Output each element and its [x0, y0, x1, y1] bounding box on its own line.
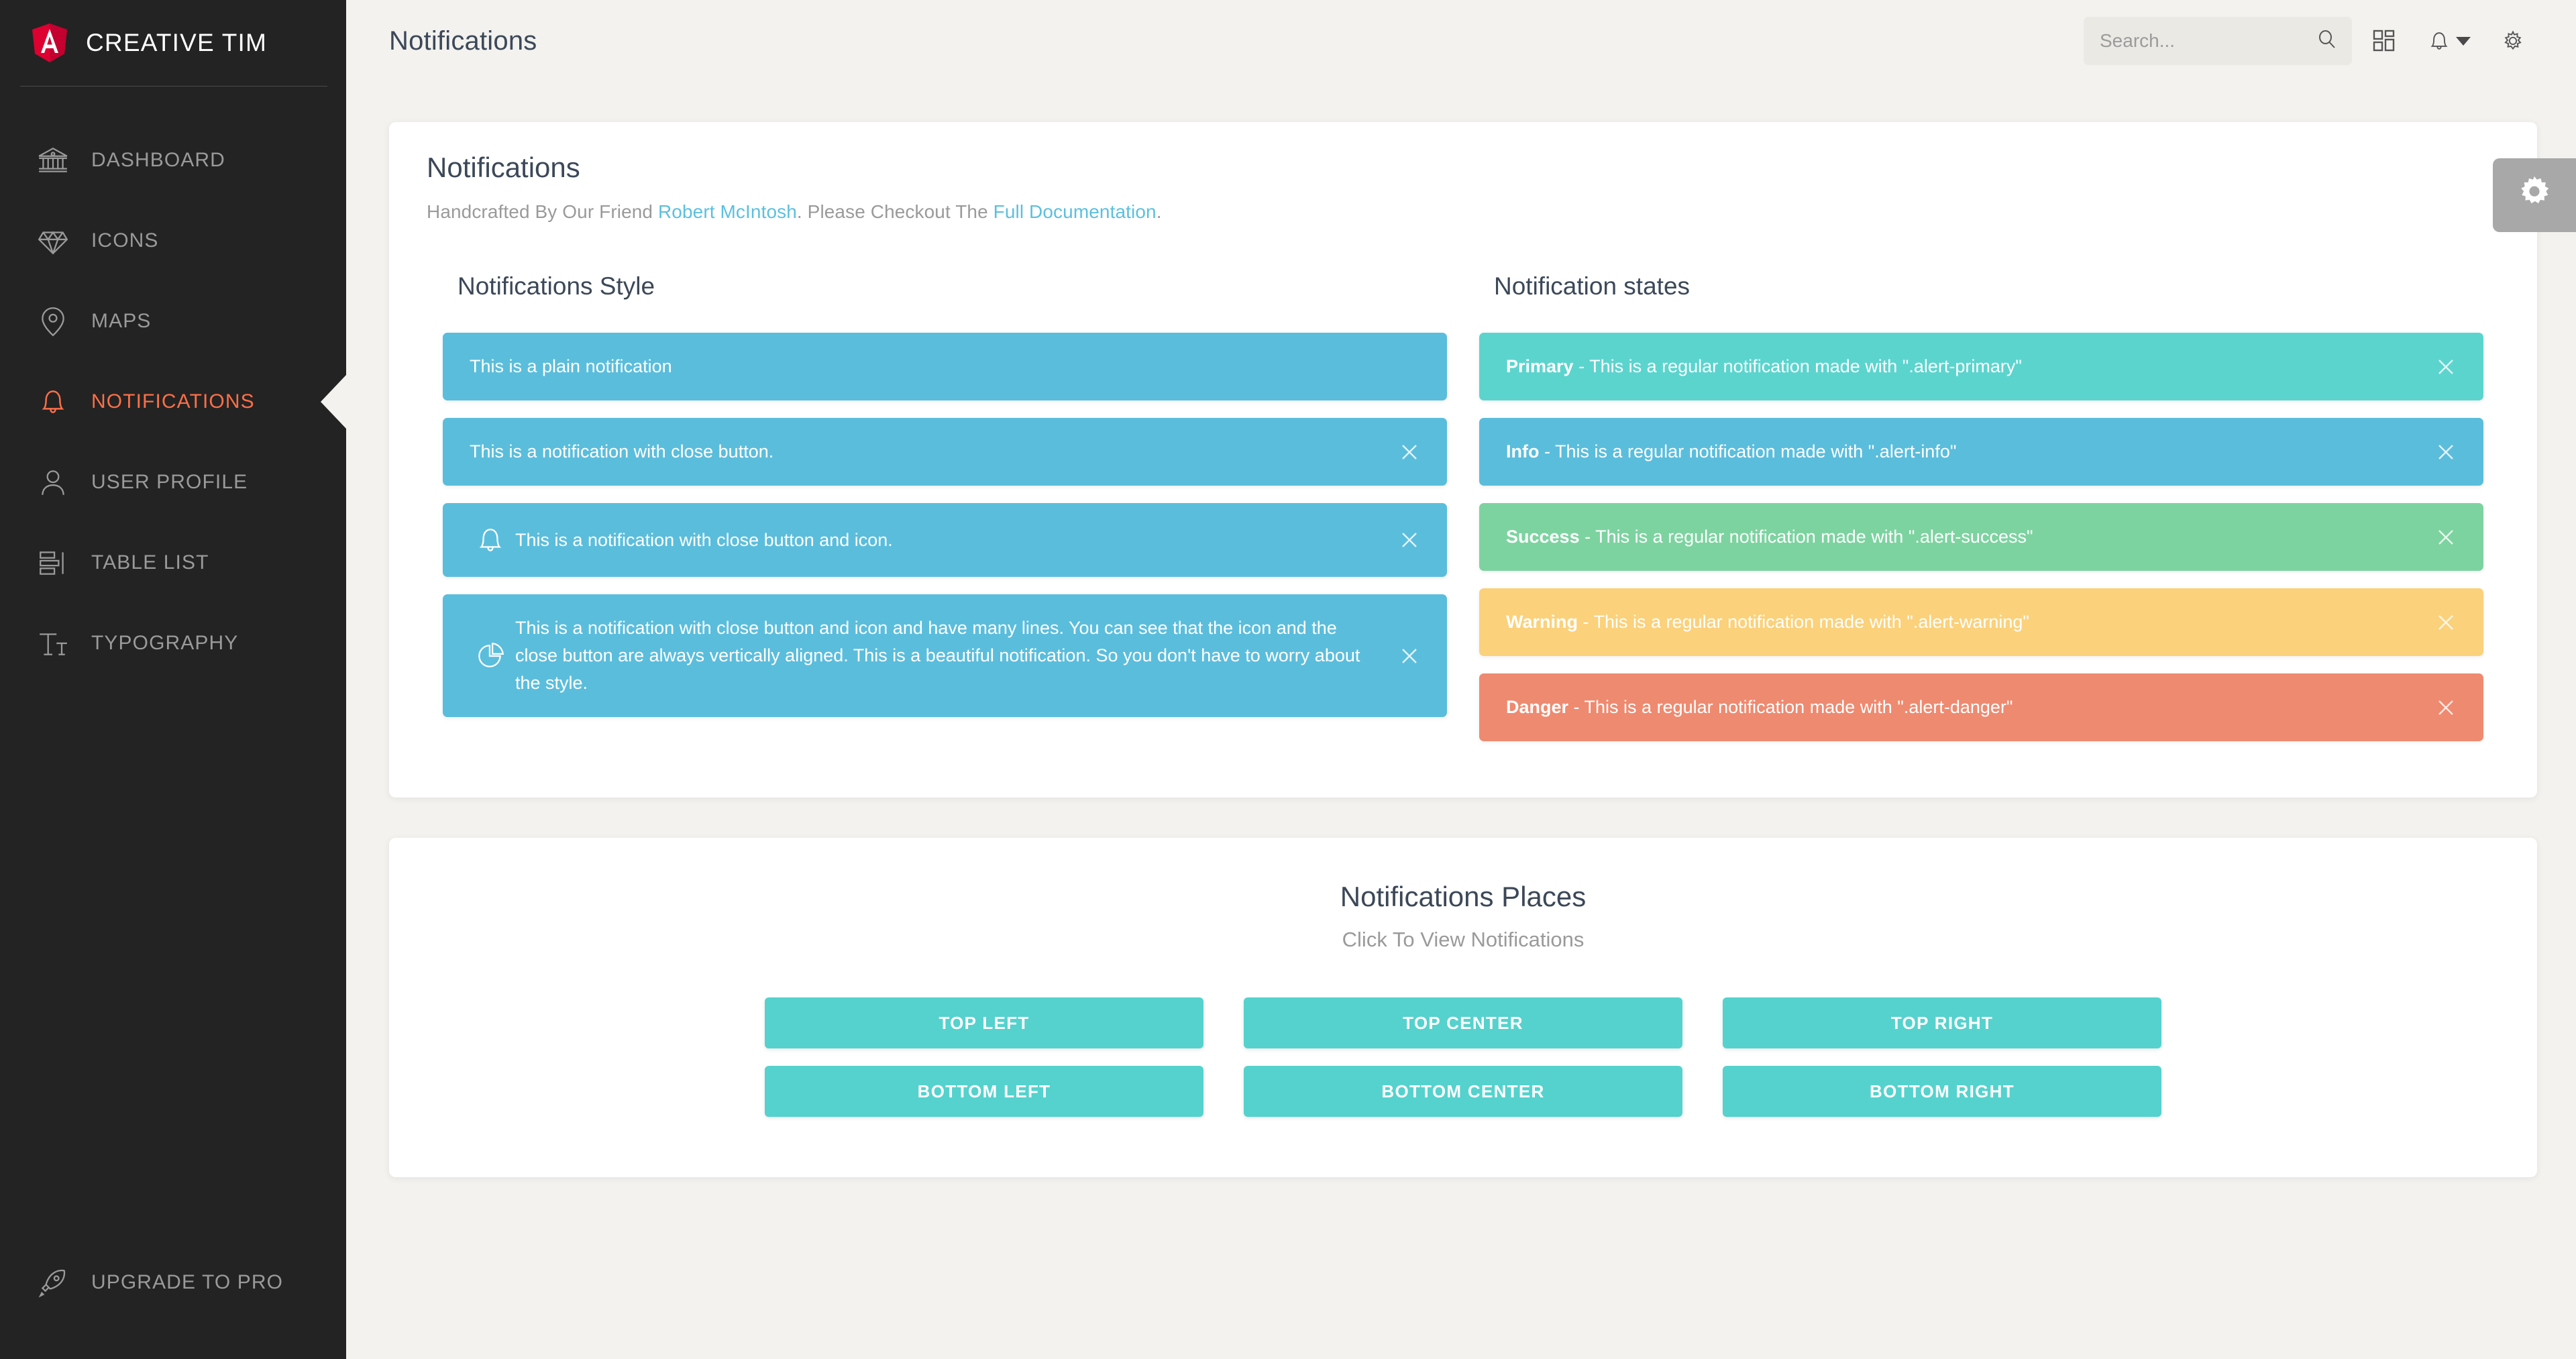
close-icon[interactable] — [1395, 641, 1424, 671]
sidebar-item-label: DASHBOARD — [91, 149, 225, 172]
alert-text: Warning - This is a regular notification… — [1506, 608, 2419, 636]
alert-warning: Warning - This is a regular notification… — [1479, 588, 2483, 656]
user-icon — [35, 464, 71, 500]
alert-separator: - — [1580, 527, 1596, 547]
sidebar-item-label: MAPS — [91, 310, 151, 333]
close-icon[interactable] — [1395, 525, 1424, 555]
gear-icon — [2517, 176, 2552, 215]
sidebar-item-label: NOTIFICATIONS — [91, 390, 255, 413]
documentation-link[interactable]: Full Documentation — [994, 201, 1157, 222]
app-root: CREATIVE TIM DASHBOARD — [0, 0, 2576, 1359]
alert-separator: - — [1574, 356, 1590, 376]
places-subtitle: Click To View Notifications — [427, 928, 2500, 952]
dashboard-grid-icon — [2371, 28, 2398, 54]
active-item-caret — [321, 375, 346, 429]
close-icon[interactable] — [1395, 437, 1424, 467]
map-pin-icon — [35, 303, 71, 339]
notification-places-card: Notifications Places Click To View Notif… — [389, 838, 2537, 1177]
rocket-icon — [35, 1264, 71, 1301]
brand-title: CREATIVE TIM — [86, 29, 267, 57]
search-input[interactable] — [2100, 30, 2309, 52]
typography-icon — [35, 625, 71, 661]
close-icon[interactable] — [2431, 437, 2461, 467]
bank-icon — [35, 142, 71, 178]
alert-text: Danger - This is a regular notification … — [1506, 694, 2419, 721]
places-button-grid: TOP LEFT TOP CENTER TOP RIGHT BOTTOM LEF… — [427, 997, 2500, 1117]
chevron-down-icon — [2456, 37, 2471, 46]
sidebar-divider — [20, 86, 327, 87]
alert-body: This is a regular notification made with… — [1595, 527, 2033, 547]
top-left-button[interactable]: TOP LEFT — [765, 997, 1203, 1048]
bottom-right-button[interactable]: BOTTOM RIGHT — [1723, 1066, 2161, 1117]
alert-label: Warning — [1506, 612, 1578, 632]
sidebar-item-dashboard[interactable]: DASHBOARD — [0, 120, 346, 201]
notifications-card: Notifications Handcrafted By Our Friend … — [389, 122, 2537, 798]
pie-chart-icon — [466, 639, 515, 673]
table-list-icon — [35, 545, 71, 581]
gear-icon — [2500, 28, 2526, 54]
sidebar-item-maps[interactable]: MAPS — [0, 281, 346, 362]
main-content: Notifications — [346, 0, 2576, 1359]
page-title: Notifications — [389, 26, 537, 56]
sidebar-nav: DASHBOARD ICONS — [0, 120, 346, 1242]
bottom-left-button[interactable]: BOTTOM LEFT — [765, 1066, 1203, 1117]
bell-icon — [2426, 28, 2452, 54]
notifications-dropdown-button[interactable] — [2416, 17, 2481, 65]
close-icon[interactable] — [2431, 523, 2461, 552]
sidebar-item-label: TABLE LIST — [91, 551, 209, 574]
settings-button[interactable] — [2481, 17, 2545, 65]
sidebar-item-label: ICONS — [91, 229, 159, 252]
sidebar-item-user-profile[interactable]: USER PROFILE — [0, 442, 346, 523]
subtitle-suffix: . — [1157, 201, 1162, 222]
author-link[interactable]: Robert McIntosh — [658, 201, 797, 222]
upgrade-label: UPGRADE TO PRO — [91, 1271, 283, 1294]
alert-separator: - — [1578, 612, 1594, 632]
alert-primary: Primary - This is a regular notification… — [1479, 333, 2483, 400]
close-icon[interactable] — [2431, 693, 2461, 722]
bell-icon — [466, 523, 515, 557]
alert-label: Primary — [1506, 356, 1574, 376]
alert-body: This is a regular notification made with… — [1594, 612, 2029, 632]
angular-shield-logo-icon — [32, 23, 67, 62]
sidebar-item-upgrade-to-pro[interactable]: UPGRADE TO PRO — [0, 1242, 346, 1323]
notification-states-column: Notification states Primary - This is a … — [1463, 272, 2500, 759]
sidebar: CREATIVE TIM DASHBOARD — [0, 0, 346, 1359]
sidebar-item-label: TYPOGRAPHY — [91, 632, 238, 655]
alert-text: This is a notification with close button… — [470, 438, 1383, 466]
alert-with-close: This is a notification with close button… — [443, 418, 1447, 486]
places-title: Notifications Places — [427, 881, 2500, 913]
sidebar-item-typography[interactable]: TYPOGRAPHY — [0, 603, 346, 684]
close-icon[interactable] — [2431, 352, 2461, 382]
sidebar-item-notifications[interactable]: NOTIFICATIONS — [0, 362, 346, 442]
settings-panel-toggle[interactable] — [2493, 158, 2576, 232]
alert-success: Success - This is a regular notification… — [1479, 503, 2483, 571]
styles-column-title: Notifications Style — [458, 272, 1447, 301]
dashboard-grid-button[interactable] — [2352, 17, 2416, 65]
search-box[interactable] — [2084, 17, 2352, 65]
alert-text: Primary - This is a regular notification… — [1506, 353, 2419, 380]
alert-columns: Notifications Style This is a plain noti… — [427, 272, 2500, 759]
alert-body: This is a regular notification made with… — [1589, 356, 2022, 376]
sidebar-item-icons[interactable]: ICONS — [0, 201, 346, 281]
bell-icon — [35, 384, 71, 420]
sidebar-item-table-list[interactable]: TABLE LIST — [0, 523, 346, 603]
search-icon[interactable] — [2316, 28, 2339, 54]
alert-label: Info — [1506, 441, 1539, 461]
alert-text: Info - This is a regular notification ma… — [1506, 438, 2419, 466]
sidebar-item-label: USER PROFILE — [91, 471, 248, 494]
alert-separator: - — [1539, 441, 1555, 461]
card-subtitle: Handcrafted By Our Friend Robert McIntos… — [427, 201, 2500, 223]
alert-body: This is a regular notification made with… — [1585, 697, 2013, 717]
alert-with-close-and-icon: This is a notification with close button… — [443, 503, 1447, 577]
alert-danger: Danger - This is a regular notification … — [1479, 673, 2483, 741]
top-right-button[interactable]: TOP RIGHT — [1723, 997, 2161, 1048]
states-column-title: Notification states — [1494, 272, 2483, 301]
alert-info: Info - This is a regular notification ma… — [1479, 418, 2483, 486]
alert-separator: - — [1568, 697, 1585, 717]
alert-text: Success - This is a regular notification… — [1506, 523, 2419, 551]
close-icon[interactable] — [2431, 608, 2461, 637]
card-title: Notifications — [427, 152, 2500, 184]
alert-body: This is a regular notification made with… — [1555, 441, 1956, 461]
content-area: Notifications Handcrafted By Our Friend … — [346, 122, 2576, 1177]
alert-plain: This is a plain notification — [443, 333, 1447, 400]
topbar: Notifications — [346, 0, 2576, 82]
alert-text: This is a plain notification — [470, 353, 1383, 380]
brand[interactable]: CREATIVE TIM — [0, 0, 346, 86]
bottom-center-button[interactable]: BOTTOM CENTER — [1244, 1066, 1682, 1117]
alert-text: This is a notification with close button… — [515, 614, 1383, 697]
subtitle-prefix: Handcrafted By Our Friend — [427, 201, 658, 222]
topbar-actions — [2084, 17, 2545, 65]
diamond-icon — [35, 223, 71, 259]
top-center-button[interactable]: TOP CENTER — [1244, 997, 1682, 1048]
alert-text: This is a notification with close button… — [515, 527, 1383, 554]
alert-multiline: This is a notification with close button… — [443, 594, 1447, 717]
alert-label: Success — [1506, 527, 1580, 547]
subtitle-middle: . Please Checkout The — [797, 201, 994, 222]
notifications-style-column: Notifications Style This is a plain noti… — [427, 272, 1463, 759]
alert-label: Danger — [1506, 697, 1568, 717]
